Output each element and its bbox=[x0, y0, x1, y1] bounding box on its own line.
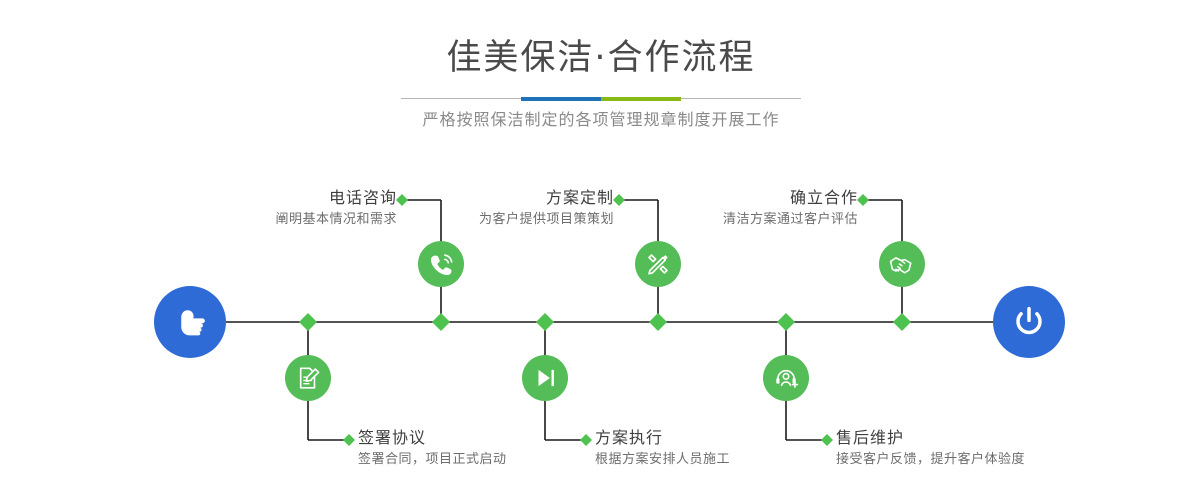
step-desc-phone-consult: 阐明基本情况和需求 bbox=[149, 209, 397, 230]
step-desc-after-sales: 接受客户反馈，提升客户体验度 bbox=[836, 449, 1025, 470]
step-title-plan-execute: 方案执行 bbox=[595, 427, 730, 449]
document-edit-icon bbox=[295, 365, 321, 391]
axis-marker-1 bbox=[299, 313, 317, 331]
handshake-icon bbox=[888, 250, 916, 278]
branch-marker-6 bbox=[857, 194, 869, 206]
step-title-after-sales: 售后维护 bbox=[836, 427, 1025, 449]
step-icon-after-sales[interactable] bbox=[763, 355, 809, 401]
axis-marker-3 bbox=[536, 313, 554, 331]
phone-call-icon bbox=[428, 251, 455, 278]
page-subtitle: 严格按照保洁制定的各项管理规章制度开展工作 bbox=[0, 107, 1202, 133]
step-label-establish-cooperation: 确立合作 清洁方案通过客户评估 bbox=[610, 187, 858, 230]
step-title-establish-cooperation: 确立合作 bbox=[610, 187, 858, 209]
process-flow-diagram: 签署协议 签署合同，项目正式启动 电话咨询 阐明基本情况和需求 方案执行 根据方… bbox=[0, 150, 1202, 502]
divider-segment-blue bbox=[521, 97, 601, 101]
step-title-plan-customize: 方案定制 bbox=[366, 187, 614, 209]
flow-end-node[interactable] bbox=[993, 286, 1065, 358]
step-label-after-sales: 售后维护 接受客户反馈，提升客户体验度 bbox=[836, 427, 1025, 470]
divider-segment-green bbox=[601, 97, 681, 101]
step-label-plan-execute: 方案执行 根据方案安排人员施工 bbox=[595, 427, 730, 470]
pencil-ruler-icon bbox=[645, 251, 671, 277]
step-title-phone-consult: 电话咨询 bbox=[149, 187, 397, 209]
customer-service-add-icon bbox=[773, 365, 799, 391]
axis-marker-2 bbox=[432, 313, 450, 331]
step-icon-plan-execute[interactable] bbox=[522, 355, 568, 401]
flow-start-node[interactable] bbox=[154, 286, 226, 358]
power-icon bbox=[1009, 302, 1049, 342]
step-icon-plan-customize[interactable] bbox=[635, 241, 681, 287]
divider-segment-left-gray bbox=[401, 98, 521, 99]
title-divider bbox=[401, 97, 801, 101]
step-label-phone-consult: 电话咨询 阐明基本情况和需求 bbox=[149, 187, 397, 230]
page-header: 佳美保洁·合作流程 严格按照保洁制定的各项管理规章制度开展工作 bbox=[0, 0, 1202, 150]
play-next-icon bbox=[532, 365, 558, 391]
axis-marker-5 bbox=[777, 313, 795, 331]
step-icon-sign-agreement[interactable] bbox=[285, 355, 331, 401]
step-title-sign-agreement: 签署协议 bbox=[358, 427, 507, 449]
step-label-plan-customize: 方案定制 为客户提供项目策策划 bbox=[366, 187, 614, 230]
step-desc-plan-customize: 为客户提供项目策策划 bbox=[366, 209, 614, 230]
step-desc-sign-agreement: 签署合同，项目正式启动 bbox=[358, 449, 507, 470]
page-title: 佳美保洁·合作流程 bbox=[0, 36, 1202, 80]
branch-marker-3 bbox=[580, 434, 592, 446]
step-icon-establish-cooperation[interactable] bbox=[879, 241, 925, 287]
divider-segment-right-gray bbox=[681, 98, 801, 99]
branch-marker-5 bbox=[821, 434, 833, 446]
axis-marker-4 bbox=[649, 313, 667, 331]
step-desc-establish-cooperation: 清洁方案通过客户评估 bbox=[610, 209, 858, 230]
step-desc-plan-execute: 根据方案安排人员施工 bbox=[595, 449, 730, 470]
hand-pointing-icon bbox=[169, 301, 211, 343]
branch-marker-1 bbox=[343, 434, 355, 446]
axis-marker-6 bbox=[893, 313, 911, 331]
step-icon-phone-consult[interactable] bbox=[418, 241, 464, 287]
step-label-sign-agreement: 签署协议 签署合同，项目正式启动 bbox=[358, 427, 507, 470]
